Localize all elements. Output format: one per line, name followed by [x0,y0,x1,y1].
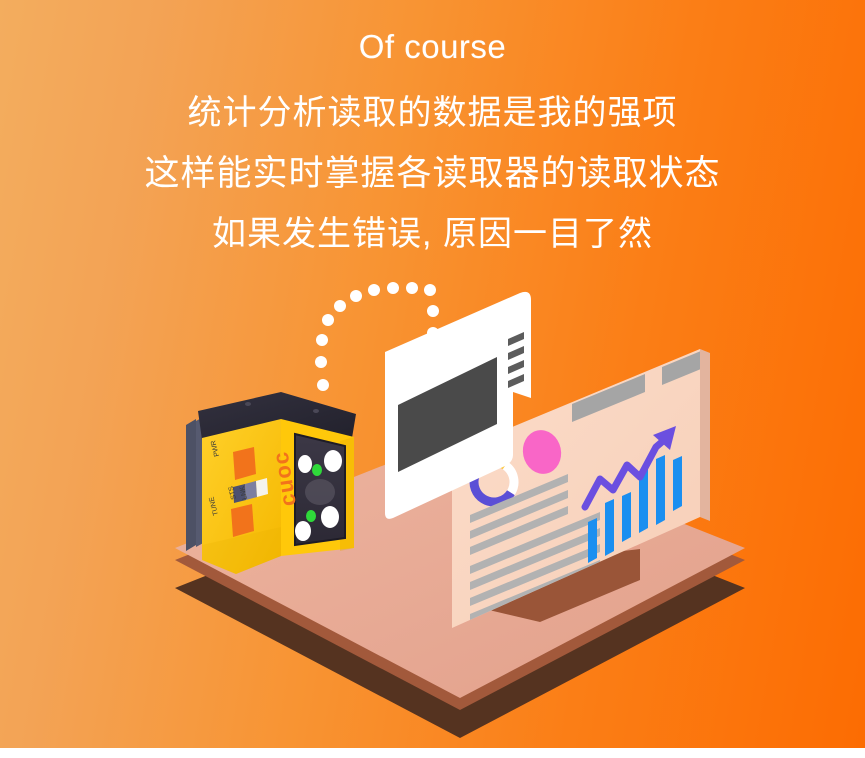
indicator-green-top [312,464,322,476]
led-bottom-left [295,521,311,541]
screen-side-face [700,349,710,521]
top-screw-left [245,402,251,406]
bar-1 [588,518,597,563]
indicator-green-bottom [306,510,316,522]
headline-line-3: 如果发生错误, 原因一目了然 [0,191,865,251]
bar-2 [605,499,614,556]
led-top-right [324,450,342,472]
bar-3 [622,492,631,542]
headline-line-2: 这样能实时掌握各读取器的读取状态 [0,130,865,191]
page-title: Of course [0,0,865,63]
banner-canvas: cuoc PWR STS LNK TUNE Of course 统计分析读取的数… [0,0,865,758]
headline-line-1: 统计分析读取的数据是我的强项 [0,63,865,130]
led-top-left [298,455,312,473]
headline-block: Of course 统计分析读取的数据是我的强项 这样能实时掌握各读取器的读取状… [0,0,865,251]
barcode-scanner: cuoc PWR STS LNK TUNE [186,392,356,574]
bar-6 [673,456,682,511]
lens-center [305,479,335,505]
top-screw-right [313,409,319,413]
led-bottom-right [321,506,339,528]
bar-5 [656,455,665,525]
